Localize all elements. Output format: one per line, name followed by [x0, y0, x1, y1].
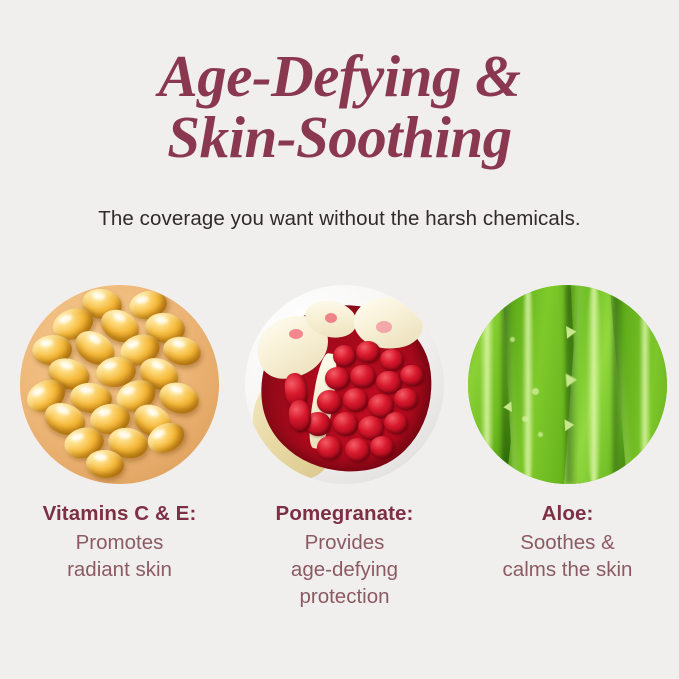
ingredient-caption-row: Vitamins C & E: Promotes radiant skin Po… — [0, 501, 679, 671]
aloe-thorn-icon — [565, 372, 577, 387]
ingredient-caption-vitamins: Vitamins C & E: Promotes radiant skin — [12, 501, 227, 583]
aloe-thorn-icon — [503, 402, 512, 413]
ingredient-description: Soothes & calms the skin — [460, 529, 675, 583]
ingredient-description: Provides age-defying protection — [237, 529, 452, 610]
aloe-leaves-photo — [468, 285, 667, 484]
ingredient-image-vitamins — [20, 285, 219, 484]
ingredient-description: Promotes radiant skin — [12, 529, 227, 583]
vitamin-capsules-photo — [20, 285, 219, 484]
page-title-line-2: Skin-Soothing — [0, 107, 679, 168]
ingredient-image-pomegranate — [245, 285, 444, 484]
ingredient-caption-aloe: Aloe: Soothes & calms the skin — [460, 501, 675, 583]
ingredient-title: Aloe: — [460, 501, 675, 527]
ingredient-image-aloe — [468, 285, 667, 484]
ingredient-image-row — [0, 285, 679, 484]
ingredient-caption-pomegranate: Pomegranate: Provides age-defying protec… — [237, 501, 452, 610]
page-subtitle: The coverage you want without the harsh … — [0, 206, 679, 232]
pomegranate-photo — [245, 285, 444, 484]
ingredient-title: Pomegranate: — [237, 501, 452, 527]
product-benefits-infographic: Age-Defying & Skin-Soothing The coverage… — [0, 0, 679, 679]
ingredient-title: Vitamins C & E: — [12, 501, 227, 527]
page-title: Age-Defying & Skin-Soothing — [0, 46, 679, 168]
aloe-thorn-icon — [564, 419, 574, 432]
page-title-line-1: Age-Defying & — [0, 46, 679, 107]
aloe-thorn-icon — [566, 325, 577, 338]
